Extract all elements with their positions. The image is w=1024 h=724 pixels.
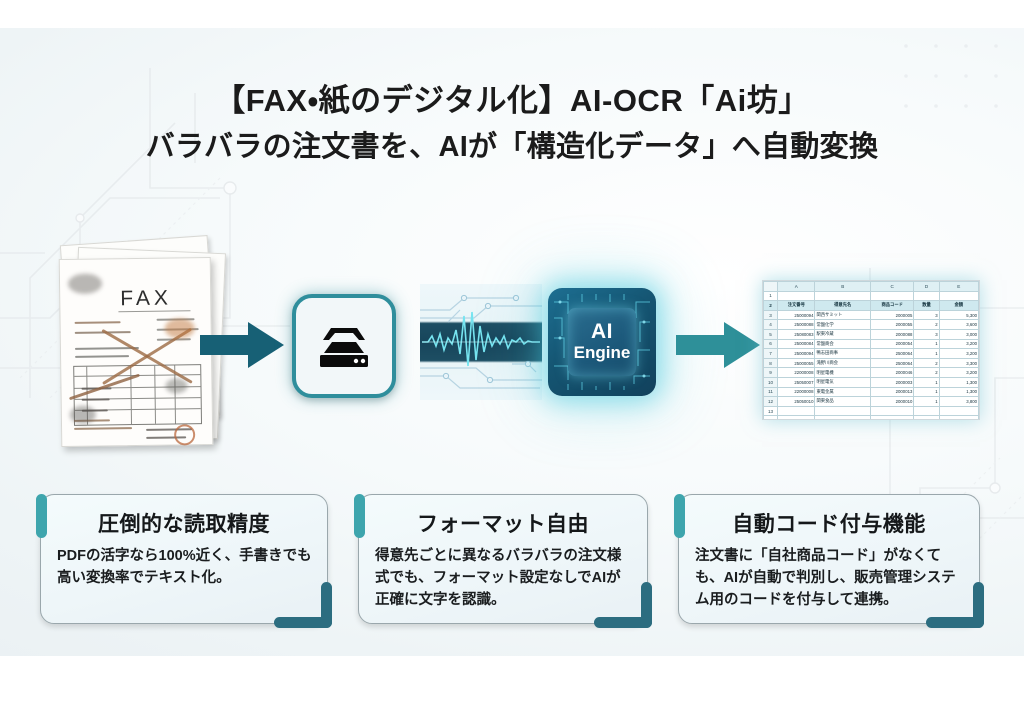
title-block: 【FAX・紙のデジタル化】AI-OCR「Ai坊」 バラバラの注文書を、AIが「構… bbox=[0, 80, 1024, 167]
column-header[interactable]: E bbox=[939, 282, 978, 292]
slide-background: 【FAX・紙のデジタル化】AI-OCR「Ai坊」 バラバラの注文書を、AIが「構… bbox=[0, 28, 1024, 656]
header-cell: 金額 bbox=[939, 301, 978, 311]
cell: 関東食品 bbox=[815, 397, 871, 407]
slide-canvas: 【FAX・紙のデジタル化】AI-OCR「Ai坊」 バラバラの注文書を、AIが「構… bbox=[0, 0, 1024, 724]
card-title: フォーマット自由 bbox=[359, 508, 647, 538]
header-cell: 注文番号 bbox=[778, 301, 815, 311]
table-row: 13 bbox=[764, 406, 979, 416]
spreadsheet-table: A B C D E 1 2 注文番号 得意 bbox=[763, 281, 979, 420]
row-number: 13 bbox=[764, 406, 778, 416]
cell: 25080083 bbox=[778, 329, 815, 339]
cell: 25000084 bbox=[778, 339, 815, 349]
row-number: 6 bbox=[764, 339, 778, 349]
card-accent-bottom-bar bbox=[926, 617, 984, 628]
card-accent-bottom-bar bbox=[274, 617, 332, 628]
row-number: 11 bbox=[764, 387, 778, 397]
cell: 25000088 bbox=[778, 320, 815, 330]
cell: 2 bbox=[914, 368, 939, 378]
cell: 明星電機 bbox=[815, 368, 871, 378]
cell: 3 bbox=[914, 329, 939, 339]
seal-stamp bbox=[174, 424, 195, 445]
cell: 1,300 bbox=[939, 377, 978, 387]
spreadsheet-output[interactable]: A B C D E 1 2 注文番号 得意 bbox=[762, 280, 980, 420]
row-number: 8 bbox=[764, 358, 778, 368]
signal-waveform-band bbox=[420, 284, 542, 400]
page-subtitle: バラバラの注文書を、AIが「構造化データ」へ自動変換 bbox=[0, 128, 1024, 167]
row-number: 4 bbox=[764, 320, 778, 330]
scanner-tile[interactable] bbox=[292, 294, 396, 398]
table-header-row: 2 注文番号 得意先名 商品コード 数量 金額 bbox=[764, 301, 979, 311]
fax-heading: FAX bbox=[120, 286, 172, 311]
cell: 駅東冷蔵 bbox=[815, 329, 871, 339]
row-number: 14 bbox=[764, 416, 778, 420]
table-row: 825000055滝野川商会250006423,300 bbox=[764, 358, 979, 368]
card-accent-top-left bbox=[674, 494, 685, 538]
card-accent-bottom-bar bbox=[594, 617, 652, 628]
cell: 鴨志田商事 bbox=[815, 349, 871, 359]
cell: 2000046 bbox=[870, 368, 913, 378]
cell: 3,600 bbox=[939, 320, 978, 330]
column-header[interactable]: A bbox=[778, 282, 815, 292]
row-number: 7 bbox=[764, 349, 778, 359]
cell: 25050010 bbox=[778, 397, 815, 407]
feature-cards: 圧倒的な読取精度 PDFの活字なら100%近く、手書きでも高い変換率でテキスト化… bbox=[0, 494, 1024, 644]
feature-card-accuracy: 圧倒的な読取精度 PDFの活字なら100%近く、手書きでも高い変換率でテキスト化… bbox=[40, 494, 328, 624]
row-number: 10 bbox=[764, 377, 778, 387]
cell: 2 bbox=[914, 358, 939, 368]
scanner-icon bbox=[315, 322, 373, 370]
feature-card-auto-code: 自動コード付与機能 注文書に「自社商品コード」がなくても、AIが自動で判別し、販… bbox=[678, 494, 980, 624]
cell: 2000003 bbox=[870, 377, 913, 387]
column-header-row: A B C D E bbox=[764, 282, 979, 292]
card-body: 注文書に「自社商品コード」がなくても、AIが自動で判別し、販売管理システム用のコ… bbox=[695, 545, 965, 611]
cell: 東電金属 bbox=[815, 387, 871, 397]
cell: 3,300 bbox=[939, 358, 978, 368]
cell: 3,000 bbox=[939, 329, 978, 339]
cell: 3 bbox=[914, 310, 939, 320]
cell: 2000013 bbox=[870, 387, 913, 397]
cell: 25000094 bbox=[778, 310, 815, 320]
cell: 25050007 bbox=[778, 377, 815, 387]
card-title: 自動コード付与機能 bbox=[679, 508, 979, 538]
arrow-scan bbox=[200, 322, 284, 368]
card-body: 得意先ごとに異なるバラバラの注文様式でも、フォーマット設定なしでAIが正確に文字… bbox=[375, 545, 633, 611]
card-body: PDFの活字なら100%近く、手書きでも高い変換率でテキスト化。 bbox=[57, 545, 313, 589]
column-header[interactable]: B bbox=[815, 282, 871, 292]
column-header[interactable]: C bbox=[870, 282, 913, 292]
table-row: 1025050007明星電気200000311,300 bbox=[764, 377, 979, 387]
card-title: 圧倒的な読取精度 bbox=[41, 508, 327, 538]
table-row: 725000094鴨志田商事250006413,200 bbox=[764, 349, 979, 359]
cell: 常盤商会 bbox=[815, 339, 871, 349]
table-row: 525080083駅東冷蔵200008833,000 bbox=[764, 329, 979, 339]
cell: 2000088 bbox=[870, 329, 913, 339]
cell: 2000054 bbox=[870, 339, 913, 349]
cell: 2000010 bbox=[870, 397, 913, 407]
column-header[interactable]: D bbox=[914, 282, 939, 292]
paper-sheet-front: FAX bbox=[59, 257, 214, 447]
chip-label-ai: AI bbox=[591, 321, 613, 342]
cell: 関西サミット bbox=[815, 310, 871, 320]
stain bbox=[165, 318, 195, 338]
cell: 1 bbox=[914, 339, 939, 349]
row-number: 5 bbox=[764, 329, 778, 339]
row-number: 12 bbox=[764, 397, 778, 407]
cell: 1 bbox=[914, 387, 939, 397]
card-accent-top-left bbox=[354, 494, 365, 538]
table-row: 1225050010関東食品200001013,800 bbox=[764, 397, 979, 407]
ai-engine-chip: AI Engine bbox=[548, 288, 656, 396]
cell: 2000055 bbox=[870, 320, 913, 330]
feature-card-format: フォーマット自由 得意先ごとに異なるバラバラの注文様式でも、フォーマット設定なし… bbox=[358, 494, 648, 624]
stain bbox=[68, 273, 102, 293]
cell: 1,300 bbox=[939, 387, 978, 397]
row-number: 2 bbox=[764, 301, 778, 311]
table-row: 625000084常盤商会200005413,200 bbox=[764, 339, 979, 349]
cell: 3,200 bbox=[939, 349, 978, 359]
header-cell: 商品コード bbox=[870, 301, 913, 311]
cell: 5,300 bbox=[939, 310, 978, 320]
cell: 1 bbox=[914, 377, 939, 387]
cell: 1 bbox=[914, 397, 939, 407]
corner-cell bbox=[764, 282, 778, 292]
card-accent-top-left bbox=[36, 494, 47, 538]
header-cell: 数量 bbox=[914, 301, 939, 311]
cell: 22000008 bbox=[778, 387, 815, 397]
cell: 2500064 bbox=[870, 349, 913, 359]
cell: 滝野川商会 bbox=[815, 358, 871, 368]
row-number: 1 bbox=[764, 291, 778, 301]
chip-core: AI Engine bbox=[568, 308, 636, 376]
table-row: 922000008明星電機200004623,200 bbox=[764, 368, 979, 378]
cell: 明星電気 bbox=[815, 377, 871, 387]
chip-label-engine: Engine bbox=[574, 344, 631, 363]
table-row: 425000088常盤化学200005523,600 bbox=[764, 320, 979, 330]
page-title: 【FAX・紙のデジタル化】AI-OCR「Ai坊」 bbox=[0, 80, 1024, 122]
table-row: 1122000008東電金属200001311,300 bbox=[764, 387, 979, 397]
cell: 25000094 bbox=[778, 349, 815, 359]
row-number: 3 bbox=[764, 310, 778, 320]
arrow-output bbox=[676, 322, 760, 368]
table-row: 1 bbox=[764, 291, 979, 301]
waveform-icon bbox=[420, 284, 542, 400]
cell: 2 bbox=[914, 320, 939, 330]
cell: 1 bbox=[914, 349, 939, 359]
header-cell: 得意先名 bbox=[815, 301, 871, 311]
cell: 2500064 bbox=[870, 358, 913, 368]
process-flow: FAX bbox=[0, 218, 1024, 468]
table-row: 325000094関西サミット200000535,300 bbox=[764, 310, 979, 320]
cell: 3,200 bbox=[939, 339, 978, 349]
table-row: 14 bbox=[764, 416, 979, 420]
cell: 2000005 bbox=[870, 310, 913, 320]
cell: 25000055 bbox=[778, 358, 815, 368]
cell: 3,200 bbox=[939, 368, 978, 378]
cell: 22000008 bbox=[778, 368, 815, 378]
cell: 3,800 bbox=[939, 397, 978, 407]
cell: 常盤化学 bbox=[815, 320, 871, 330]
row-number: 9 bbox=[764, 368, 778, 378]
